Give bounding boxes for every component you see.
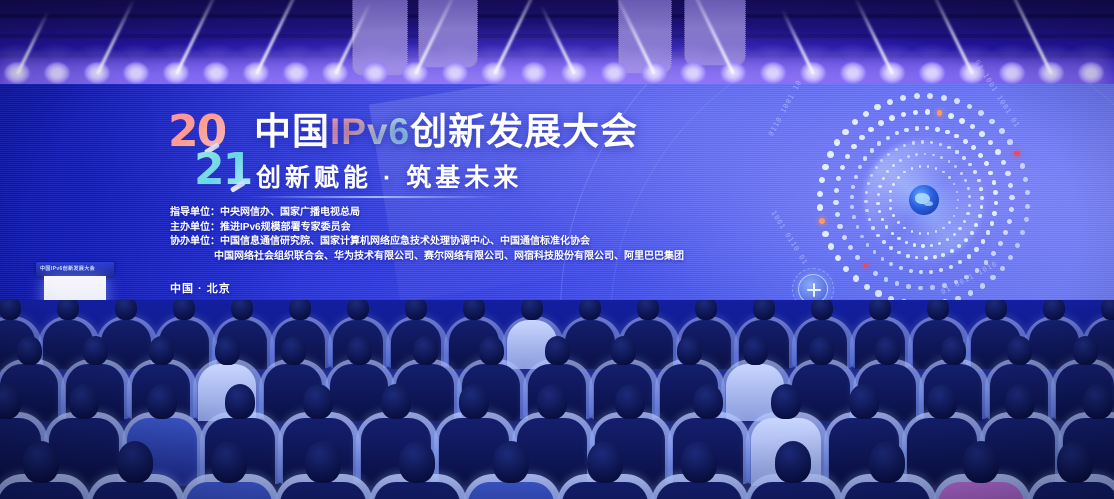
audience-member-body [0,482,84,499]
graphic-dot [845,154,851,160]
graphic-dot [988,140,994,146]
graphic-dot [866,243,870,247]
audience-member-head [347,300,368,320]
audience-member-head [463,300,484,320]
audience-member-head [17,336,42,365]
graphic-dot [979,131,985,137]
accent-dot [1014,151,1019,156]
graphic-dot [863,111,869,117]
graphic-dot [895,131,899,135]
graphic-dot [948,113,954,119]
graphic-dot [901,112,907,118]
graphic-dot [884,277,889,282]
graphic-dot [981,239,986,244]
audience-member-head [281,336,306,365]
audience-member-head [115,300,136,320]
audience-member-head [681,441,717,483]
graphic-dot [1003,230,1008,235]
title-lead: 中国 [254,111,330,152]
graphic-dot [978,153,983,158]
graphic-dot [817,204,823,210]
audience-member-head [173,300,194,320]
audience-member-head [869,300,890,320]
organizer-line: 主办单位：推进IPv6规模部署专家委员会 [170,221,684,236]
audience-member-head [1057,441,1093,483]
audience-member-head [303,384,333,419]
graphic-dot [989,119,995,125]
audience-member-head [289,300,310,320]
graphic-dot [881,257,885,261]
graphic-dot [852,215,856,219]
graphic-dot [835,212,840,217]
graphic-dot [833,200,838,205]
graphic-dot [889,115,895,121]
audience-member-head [459,384,489,419]
graphic-dot [1015,243,1020,248]
audience-member-body [280,482,366,499]
audience-member-head [215,336,240,365]
graphic-dot [817,191,823,197]
graphic-dot [904,128,908,132]
graphic-dot [836,176,841,181]
audience-member-head [479,336,504,365]
graphic-dot [858,165,862,169]
graphic-dot [949,265,953,269]
graphic-dot [991,251,996,256]
graphic-dot [995,149,1001,155]
graphic-dot [954,98,960,104]
graphic-dot [859,135,865,141]
graphic-dot [828,243,834,249]
graphic-dot [988,171,993,176]
graphic-dot [848,245,853,250]
conference-stage-photo: 20 21 中国IPv6创新发展大会 创新赋能 · 筑基未来 指导单位：中央网信… [0,0,1114,499]
graphic-dot [1023,177,1028,182]
graphic-dot [980,283,985,288]
graphic-dot [935,127,940,132]
graphic-dot [850,205,854,209]
subtitle-underline [250,196,500,198]
audience-member-body [844,482,930,499]
graphic-dot [927,93,933,99]
graphic-dot [929,270,933,274]
organizer-line: 协办单位：中国信息通信研究院、国家计算机网络应急技术处理协调中心、中国通信标准化… [170,235,684,250]
audience-member-body [750,482,836,499]
graphic-dot [864,284,870,290]
graphic-dot [834,139,840,145]
audience-member-head [537,384,567,419]
graphic-dot [967,254,971,258]
stage-spotlight [1078,62,1104,84]
graphic-dot [1008,183,1013,188]
graphic-dot [1025,204,1030,209]
audience-member-head [849,384,879,419]
graphic-dot [843,266,849,272]
audience-member-head [83,336,108,365]
audience-member-head [809,336,834,365]
graphic-dot [909,269,913,273]
audience-seating-area [0,300,1114,499]
graphic-dot [1009,195,1014,200]
audience-member-head [941,336,966,365]
title-highlight-ipv6: IPv6 [330,111,410,152]
audience-member-body [656,482,742,499]
graphic-dot [863,156,867,160]
graphic-dot [822,231,828,237]
audience-member-head [399,441,435,483]
audience-member-head [521,300,542,320]
graphic-dot [887,99,893,105]
audience-member-head [405,300,426,320]
organizer-line: 指导单位：中央网信办、国家广播电视总局 [170,206,684,221]
graphic-dot [851,144,857,150]
graphic-dot [906,284,910,288]
graphic-dot [971,145,976,150]
graphic-dot [959,118,965,124]
graphic-dot [827,151,833,157]
location-label: 中国 · 北京 [170,280,231,296]
graphic-dot [900,95,906,101]
conference-subtitle: 创新赋能 · 筑基未来 [256,164,522,192]
graphic-dot [1000,266,1005,271]
graphic-dot [1007,139,1013,145]
audience-member-head [149,336,174,365]
graphic-dot [851,185,855,189]
podium-banner: 中国IPv6创新发展大会 [36,262,114,276]
audience-member-head [545,336,570,365]
graphic-dot [998,241,1003,246]
audience-member-head [1043,300,1064,320]
audience-member-head [225,384,255,419]
audience-member-head [23,441,59,483]
title-tail: 创新发展大会 [410,111,638,152]
audience-member-head [1007,336,1032,365]
audience-member-head [381,384,411,419]
graphic-dot [870,148,874,152]
graphic-dot [915,126,920,131]
graphic-dot [895,281,900,286]
graphic-dot [992,211,997,216]
graphic-dot [877,141,881,145]
graphic-dot [835,255,841,261]
graphic-dot [840,165,846,171]
graphic-dot [874,104,880,110]
graphic-dot [878,120,884,126]
graphic-dot [1005,171,1010,176]
audience-member-body [186,482,272,499]
audience-member-head [615,384,645,419]
graphic-dot [993,190,998,195]
graphic-dot [1020,230,1025,235]
audience-member-head [753,300,774,320]
audience-member-head [117,441,153,483]
graphic-dot [1007,219,1012,224]
audience-member-head [611,336,636,365]
audience-member-head [963,441,999,483]
graphic-dot [990,221,995,226]
audience-member-head [811,300,832,320]
audience-member-body [374,482,460,499]
graphic-dot [853,275,859,281]
audience-member-body [562,482,648,499]
audience-member-head [1083,384,1113,419]
graphic-dot [868,127,874,133]
graphic-dot [945,130,950,135]
graphic-dot [958,260,962,264]
audience-member-head [147,384,177,419]
graphic-dot [819,177,825,183]
graphic-dot [918,286,922,290]
audience-member-head [743,336,768,365]
audience-member-head [869,441,905,483]
graphic-dot [834,188,839,193]
graphic-dot [1020,163,1025,168]
graphic-dot [963,139,968,144]
audience-member-head [579,300,600,320]
graphic-dot [860,235,864,239]
graphic-dot [1025,190,1030,195]
audience-member-head [771,384,801,419]
year-logo-2021: 20 21 [168,108,258,200]
audience-member-head [677,336,702,365]
graphic-dot [1008,255,1013,260]
graphic-dot [970,124,976,130]
audience-member-body [1032,482,1114,499]
globe-icon [909,185,939,215]
audience-member-head [927,300,948,320]
graphic-dot [919,270,923,274]
graphic-dot [1009,207,1014,212]
audience-member-head [1005,384,1035,419]
audience-member-body [938,482,1024,499]
graphic-dot [886,136,890,140]
graphic-dot [822,164,828,170]
graphic-dot [889,262,893,266]
graphic-dot [914,93,920,99]
graphic-dot [990,275,995,280]
audience-member-head [775,441,811,483]
graphic-dot [954,134,959,139]
audience-member-head [1101,300,1114,320]
graphic-dot [925,109,931,115]
audience-member-head [693,384,723,419]
audience-member-head [587,441,623,483]
graphic-dot [925,126,930,131]
graphic-dot [939,268,943,272]
audience-member-head [69,384,99,419]
accent-dot [819,218,825,224]
graphic-dot [842,129,848,135]
graphic-dot [1024,217,1029,222]
audience-member-head [637,300,658,320]
podium-banner-text: 中国IPv6创新发展大会 [40,265,95,272]
audience-member-head [985,300,1006,320]
audience-member-body [92,482,178,499]
audience-member-head [347,336,372,365]
audience-member-head [927,384,957,419]
audience-member-body [468,482,554,499]
graphic-dot [837,224,842,229]
graphic-dot [873,250,877,254]
audience-member-head [211,441,247,483]
graphic-dot [986,230,991,235]
organizer-line: 中国网络社会组织联合会、华为技术有限公司、赛尔网络有限公司、网宿科技股份有限公司… [170,250,684,265]
conference-title: 中国IPv6创新发展大会 [254,112,638,152]
graphic-dot [1001,160,1006,165]
graphic-dot [992,180,997,185]
graphic-dot [873,271,878,276]
graphic-dot [875,290,881,296]
graphic-dot [999,128,1005,134]
graphic-dot [856,225,860,229]
graphic-dot [899,266,903,270]
graphic-dot [854,175,858,179]
audience-member-head [1073,336,1098,365]
audience-member-head [875,336,900,365]
graphic-dot [852,119,858,125]
graphic-dot [913,110,919,116]
accent-dot [937,110,943,116]
audience-member-head [413,336,438,365]
graphic-dot [941,95,947,101]
graphic-dot [850,195,854,199]
audience-member-head [231,300,252,320]
graphic-dot [984,161,989,166]
globe-dot-graphic: 01 1001 1001 01 0110 1001 10 1001 0110 0… [808,84,1040,316]
audience-member-head [695,300,716,320]
audience-member-head [493,441,529,483]
graphic-dot [930,285,934,289]
audience-member-head [305,441,341,483]
graphic-dot [842,235,847,240]
accent-dot [863,264,868,269]
graphic-dot [978,110,984,116]
graphic-dot [967,104,973,110]
graphic-dot [855,255,860,260]
graphic-dot [994,201,999,206]
graphic-dot [974,247,979,252]
audience-member-head [0,300,21,320]
graphic-dot [968,290,973,295]
organizer-block: 指导单位：中央网信办、国家广播电视总局 主办单位：推进IPv6规模部署专家委员会… [170,206,684,264]
audience-member-head [57,300,78,320]
